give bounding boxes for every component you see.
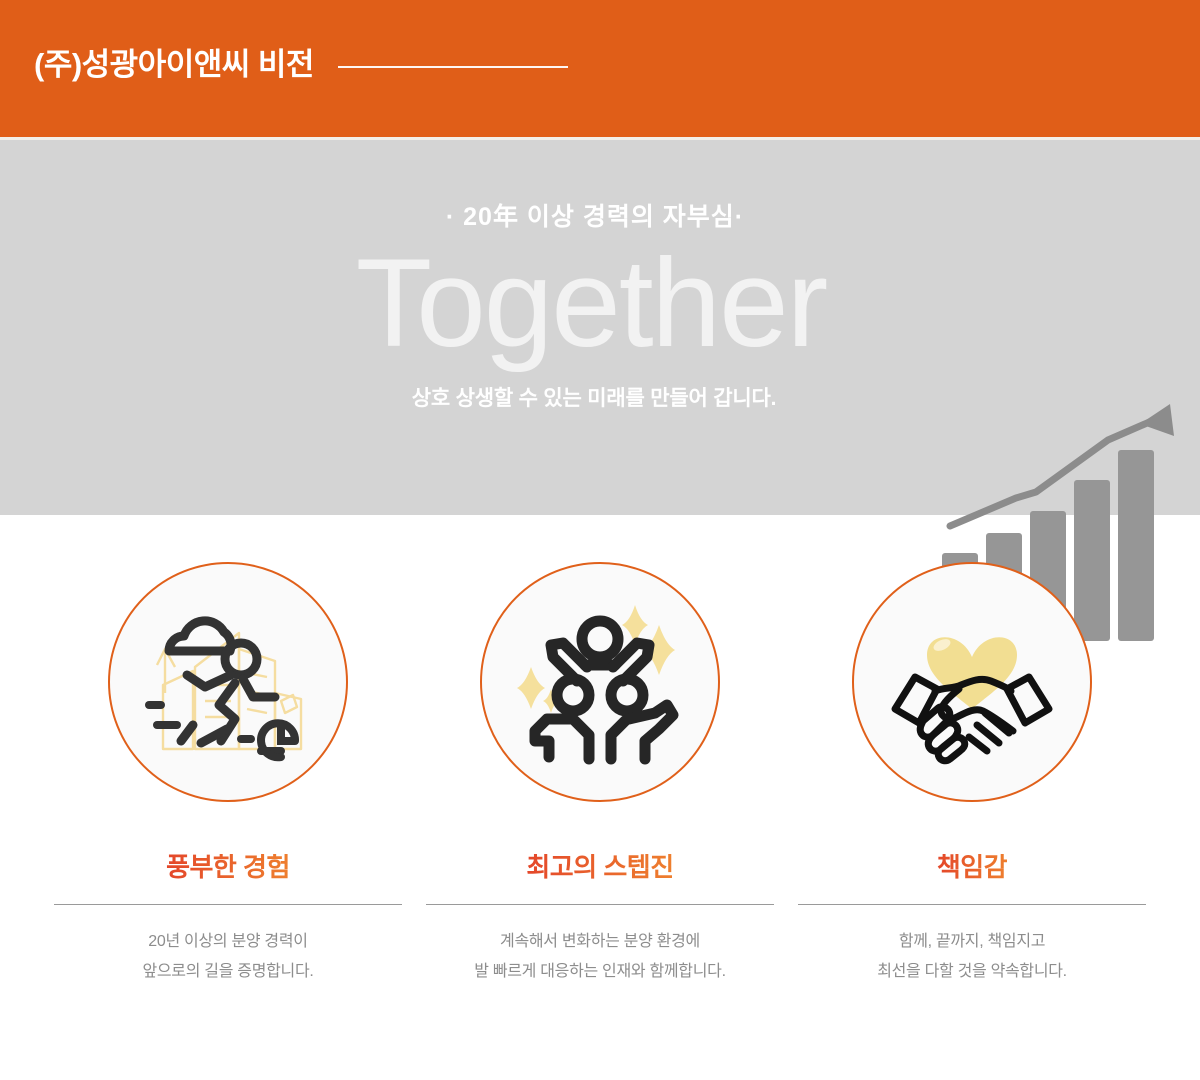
card-title: 최고의 스텝진 xyxy=(526,854,673,880)
card-divider xyxy=(54,904,402,905)
card-title: 책임감 xyxy=(937,854,1007,880)
heart-shape xyxy=(927,637,1017,709)
header-inner: (주)성광아이앤씨 비전 xyxy=(34,48,568,82)
person-bottom-right xyxy=(611,679,673,759)
value-card: 최고의 스텝진 계속해서 변화하는 분양 환경에 발 빠르게 대응하는 인재와 … xyxy=(414,516,786,986)
hero-eyebrow: · 20年 이상 경력의 자부심· xyxy=(446,205,744,230)
value-cards: 풍부한 경험 20년 이상의 분양 경력이 앞으로의 길을 증명합니다. xyxy=(0,516,1200,1080)
card-desc-line: 함께, 끝까지, 책임지고 xyxy=(877,927,1067,957)
hero-tagline: 상호 상생할 수 있는 미래를 만들어 갑니다. xyxy=(412,382,776,412)
trend-arrowhead xyxy=(1140,404,1174,436)
card-divider xyxy=(426,904,774,905)
vision-page: (주)성광아이앤씨 비전 · 20年 이상 경력의 자부심· Together … xyxy=(0,0,1200,1080)
running-person-icon xyxy=(108,562,348,802)
hero-band: · 20年 이상 경력의 자부심· Together 상호 상생할 수 있는 미… xyxy=(0,140,1200,515)
card-desc-line: 앞으로의 길을 증명합니다. xyxy=(142,957,313,987)
card-desc-line: 20년 이상의 분양 경력이 xyxy=(142,927,313,957)
card-description: 20년 이상의 분양 경력이 앞으로의 길을 증명합니다. xyxy=(142,927,313,986)
page-header: (주)성광아이앤씨 비전 xyxy=(0,0,1200,137)
handshake-heart-icon xyxy=(852,562,1092,802)
page-title: (주)성광아이앤씨 비전 xyxy=(34,48,314,82)
card-title: 풍부한 경험 xyxy=(166,854,290,880)
value-card: 풍부한 경험 20년 이상의 분양 경력이 앞으로의 길을 증명합니다. xyxy=(42,516,414,986)
card-description: 계속해서 변화하는 분양 환경에 발 빠르게 대응하는 인재와 함께합니다. xyxy=(474,927,725,986)
card-desc-line: 계속해서 변화하는 분양 환경에 xyxy=(474,927,725,957)
card-description: 함께, 끝까지, 책임지고 최선을 다할 것을 약속합니다. xyxy=(877,927,1067,986)
header-rule-line xyxy=(338,66,568,68)
three-people-celebrating-icon xyxy=(480,562,720,802)
hero-headline: Together xyxy=(356,240,826,368)
value-card: 책임감 함께, 끝까지, 책임지고 최선을 다할 것을 약속합니다. xyxy=(786,516,1158,986)
card-desc-line: 최선을 다할 것을 약속합니다. xyxy=(877,957,1067,987)
card-divider xyxy=(798,904,1146,905)
card-desc-line: 발 빠르게 대응하는 인재와 함께합니다. xyxy=(474,957,725,987)
person-bottom-left xyxy=(535,679,589,759)
